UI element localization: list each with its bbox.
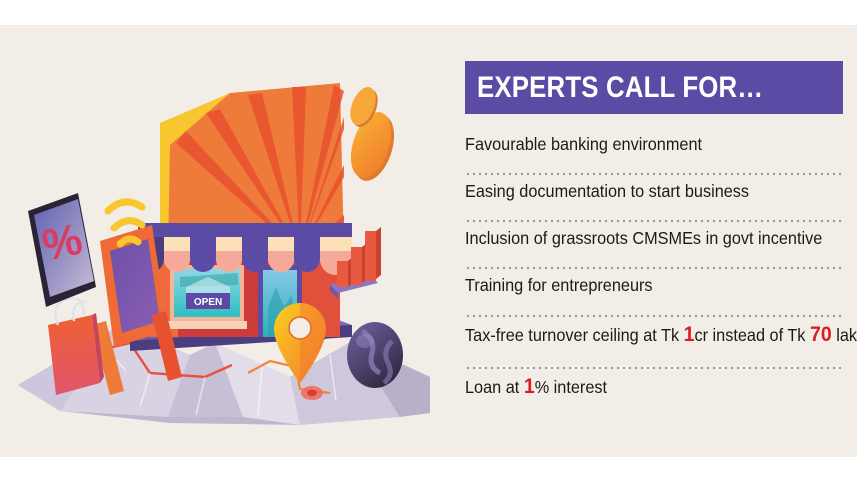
experts-call-for-panel: EXPERTS CALL FOR… Favourable banking env… [465, 61, 843, 405]
list-item: Training for entrepreneurs [465, 273, 843, 300]
list-item-text: Inclusion of grassroots CMSMEs in govt i… [465, 226, 817, 250]
open-sign-text: OPEN [194, 297, 222, 308]
list-item: Easing documentation to start business [465, 179, 843, 206]
list-separator [465, 259, 843, 269]
infographic-canvas: OPEN [0, 0, 857, 482]
list-item: Inclusion of grassroots CMSMEs in govt i… [465, 226, 843, 253]
list-item-text: Easing documentation to start business [465, 179, 817, 203]
list-separator [465, 165, 843, 175]
percent-tablet-icon: % [28, 193, 96, 307]
panel-header: EXPERTS CALL FOR… [465, 61, 843, 114]
list-separator [465, 359, 843, 369]
illustration: OPEN [0, 25, 460, 457]
list-item-text: Favourable banking environment [465, 132, 817, 156]
shopping-bag-icon [48, 298, 104, 395]
globe-icon [347, 322, 403, 388]
list-item: Loan at 1% interest [465, 373, 843, 405]
coins-icon [343, 83, 401, 186]
list-item-text: Loan at 1% interest [465, 373, 817, 402]
list-item: Tax-free turnover ceiling at Tk 1cr inst… [465, 321, 843, 353]
list-separator [465, 307, 843, 317]
list-separator [465, 212, 843, 222]
list-item: Favourable banking environment [465, 132, 843, 159]
recommendations-list: Favourable banking environment Easing do… [465, 132, 843, 405]
list-item-text: Tax-free turnover ceiling at Tk 1cr inst… [465, 321, 817, 350]
page-title: EXPERTS CALL FOR… [477, 71, 763, 105]
list-item-text: Training for entrepreneurs [465, 273, 817, 297]
